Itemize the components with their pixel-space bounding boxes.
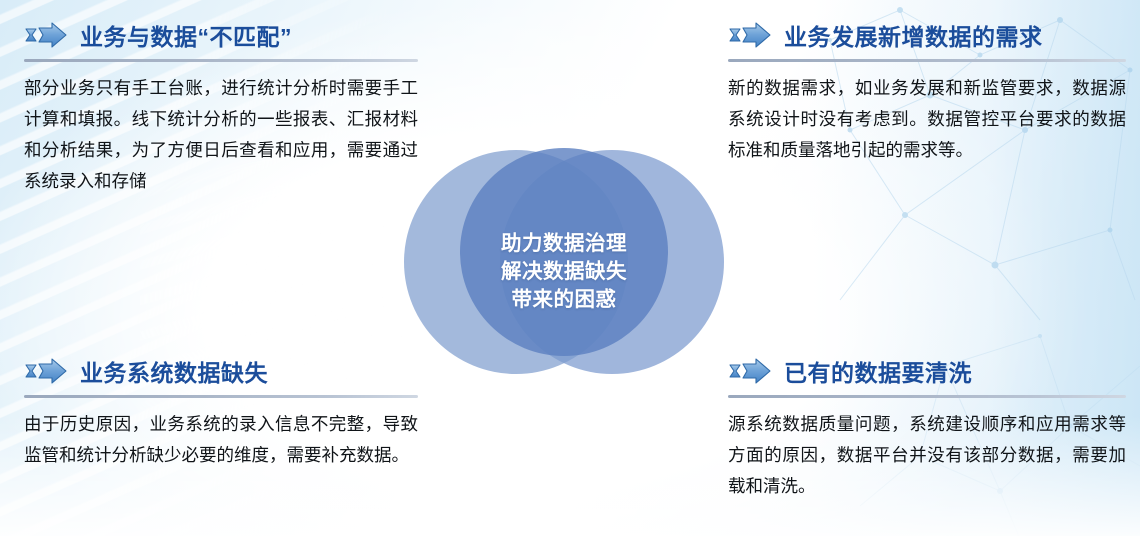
block-bottom-left-body: 由于历史原因，业务系统的录入信息不完整，导致监管和统计分析缺少必要的维度，需要补…: [24, 409, 418, 471]
block-bottom-left: 业务系统数据缺失 由于历史原因，业务系统的录入信息不完整，导致监管和统计分析缺少…: [24, 352, 418, 471]
block-bottom-left-title: 业务系统数据缺失: [80, 354, 268, 388]
block-bottom-right-title: 已有的数据要清洗: [784, 354, 972, 388]
block-bottom-right-header: 已有的数据要清洗: [728, 352, 1126, 390]
block-top-left: 业务与数据“不匹配” 部分业务只有手工台账，进行统计分析时需要手工计算和填报。线…: [24, 16, 418, 197]
block-top-left-body: 部分业务只有手工台账，进行统计分析时需要手工计算和填报。线下统计分析的一些报表、…: [24, 73, 418, 197]
block-top-left-divider: [24, 59, 418, 62]
block-top-left-title: 业务与数据“不匹配”: [80, 18, 292, 52]
block-bottom-left-divider: [24, 395, 418, 398]
arrow-right-icon: [24, 358, 68, 384]
block-top-right-header: 业务发展新增数据的需求: [728, 16, 1126, 54]
block-top-left-header: 业务与数据“不匹配”: [24, 16, 418, 54]
arrow-right-icon: [728, 22, 772, 48]
block-top-right-body: 新的数据需求，如业务发展和新监管要求，数据源系统设计时没有考虑到。数据管控平台要…: [728, 73, 1126, 166]
block-bottom-right: 已有的数据要清洗 源系统数据质量问题，系统建设顺序和应用需求等方面的原因，数据平…: [728, 352, 1126, 502]
center-line-3: 带来的困惑: [404, 286, 724, 314]
center-venn-text: 助力数据治理 解决数据缺失 带来的困惑: [404, 230, 724, 314]
slide-canvas: 助力数据治理 解决数据缺失 带来的困惑 业务与数据“不匹配” 部分业务只有: [0, 0, 1140, 536]
block-top-right: 业务发展新增数据的需求 新的数据需求，如业务发展和新监管要求，数据源系统设计时没…: [728, 16, 1126, 166]
block-bottom-right-body: 源系统数据质量问题，系统建设顺序和应用需求等方面的原因，数据平台并没有该部分数据…: [728, 409, 1126, 502]
block-bottom-right-divider: [728, 395, 1126, 398]
block-bottom-left-header: 业务系统数据缺失: [24, 352, 418, 390]
center-line-1: 助力数据治理: [404, 230, 724, 258]
block-top-right-title: 业务发展新增数据的需求: [784, 18, 1043, 52]
arrow-right-icon: [728, 358, 772, 384]
block-top-right-divider: [728, 59, 1126, 62]
arrow-right-icon: [24, 22, 68, 48]
center-line-2: 解决数据缺失: [404, 258, 724, 286]
center-venn-graphic: 助力数据治理 解决数据缺失 带来的困惑: [404, 112, 724, 402]
